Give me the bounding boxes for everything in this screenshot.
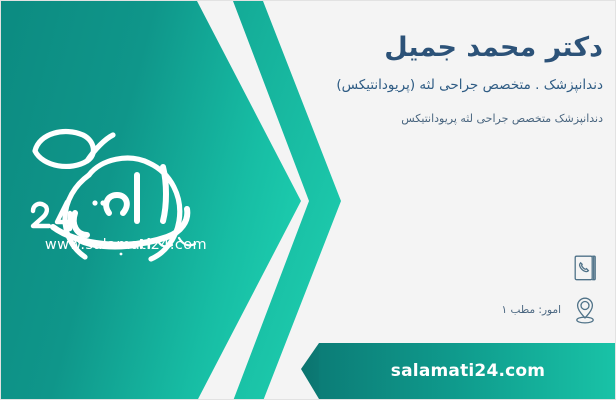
location-pin-icon[interactable] (569, 294, 601, 326)
footer-website: salamati24.com (391, 361, 545, 381)
profile-content: دکتر محمد جمیل دندانپزشک . متخصص جراحی ل… (303, 31, 603, 128)
doctor-subtitle: دندانپزشک . متخصص جراحی لثه (پریودانتیکس… (303, 75, 603, 95)
doctor-name: دکتر محمد جمیل (303, 31, 603, 65)
business-card: www.salamati24.com دکتر محمد جمیل دندانپ… (0, 0, 616, 400)
doctor-specialty: دندانپزشک متخصص جراحی لثه پریودانتیکس (303, 111, 603, 128)
footer-bar[interactable]: salamati24.com (319, 343, 616, 399)
contact-row-address[interactable]: امور: مطب ۱ (311, 293, 601, 327)
phone-book-icon[interactable] (569, 252, 601, 284)
contact-block: امور: مطب ۱ (311, 251, 601, 335)
contact-row-phone[interactable] (311, 251, 601, 285)
contact-address-text: امور: مطب ۱ (502, 303, 561, 318)
